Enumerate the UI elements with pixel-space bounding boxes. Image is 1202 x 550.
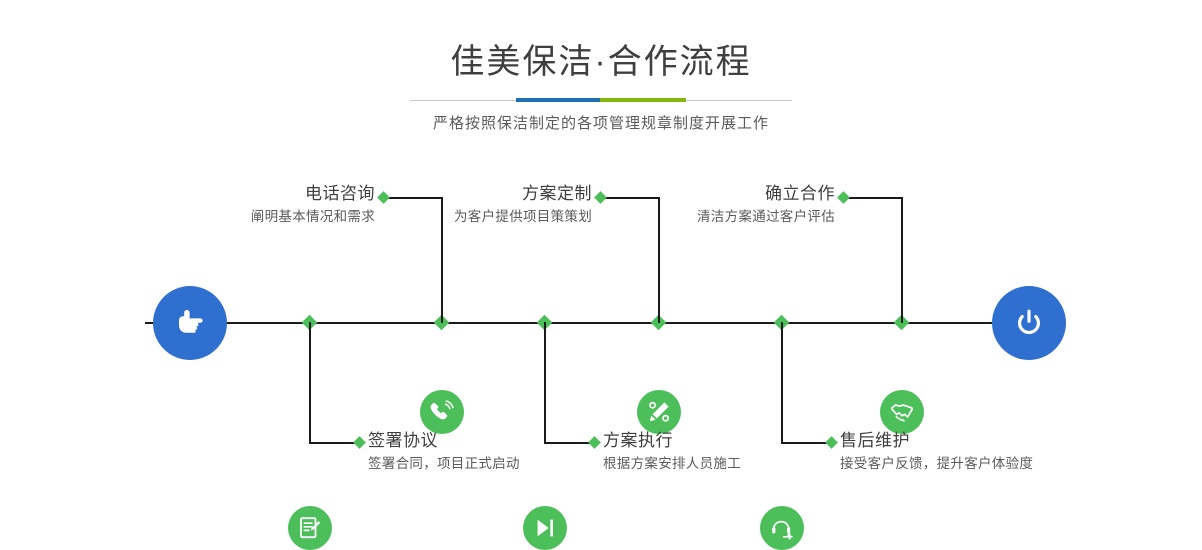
connector-vline-2	[309, 322, 311, 443]
pointing-hand-icon	[170, 303, 210, 343]
flow-start-endpoint	[153, 286, 227, 360]
document-edit-icon	[297, 515, 323, 541]
connector-vline-6	[781, 322, 783, 443]
step-label-2: 签署协议 签署合同，项目正式启动	[368, 430, 520, 474]
pencil-ruler-icon	[646, 399, 672, 425]
connector-vline-5	[901, 197, 903, 323]
step-title-4: 方案执行	[603, 430, 741, 452]
label-marker-6	[825, 436, 838, 449]
step-desc-3: 为客户提供项目策策划	[337, 205, 592, 227]
page-header: 佳美保洁·合作流程 严格按照保洁制定的各项管理规章制度开展工作	[0, 0, 1202, 133]
divider-segment-green	[600, 98, 686, 102]
step-node-5[interactable]	[880, 390, 924, 434]
step-node-2[interactable]	[288, 506, 332, 550]
process-flow-diagram: 电话咨询 阐明基本情况和需求 签署协议 签署合同，项目正式启动	[0, 150, 1202, 502]
step-label-3: 方案定制 为客户提供项目策策划	[337, 183, 592, 227]
step-label-4: 方案执行 根据方案安排人员施工	[603, 430, 741, 474]
power-icon	[1009, 303, 1049, 343]
label-marker-5	[837, 191, 850, 204]
handshake-icon	[889, 399, 915, 425]
step-node-4[interactable]	[523, 506, 567, 550]
step-desc-5: 清洁方案通过客户评估	[580, 205, 835, 227]
divider-segment-blue	[516, 98, 600, 102]
page-title: 佳美保洁·合作流程	[0, 0, 1202, 84]
step-title-2: 签署协议	[368, 430, 520, 452]
step-desc-6: 接受客户反馈，提升客户体验度	[840, 452, 1033, 474]
customer-service-icon	[769, 515, 795, 541]
step-title-5: 确立合作	[580, 183, 835, 205]
label-marker-2	[353, 436, 366, 449]
phone-call-icon	[429, 399, 455, 425]
play-execute-icon	[532, 515, 558, 541]
step-label-6: 售后维护 接受客户反馈，提升客户体验度	[840, 430, 1033, 474]
step-desc-2: 签署合同，项目正式启动	[368, 452, 520, 474]
step-node-1[interactable]	[420, 390, 464, 434]
label-marker-4	[588, 436, 601, 449]
step-label-5: 确立合作 清洁方案通过客户评估	[580, 183, 835, 227]
flow-end-endpoint	[992, 286, 1066, 360]
title-divider	[410, 98, 792, 102]
timeline-axis	[145, 322, 1065, 324]
step-title-6: 售后维护	[840, 430, 1033, 452]
step-title-3: 方案定制	[337, 183, 592, 205]
step-desc-4: 根据方案安排人员施工	[603, 452, 741, 474]
step-node-6[interactable]	[760, 506, 804, 550]
page-subtitle: 严格按照保洁制定的各项管理规章制度开展工作	[0, 102, 1202, 133]
connector-hline-5	[844, 197, 902, 199]
connector-vline-4	[544, 322, 546, 443]
step-node-3[interactable]	[637, 390, 681, 434]
